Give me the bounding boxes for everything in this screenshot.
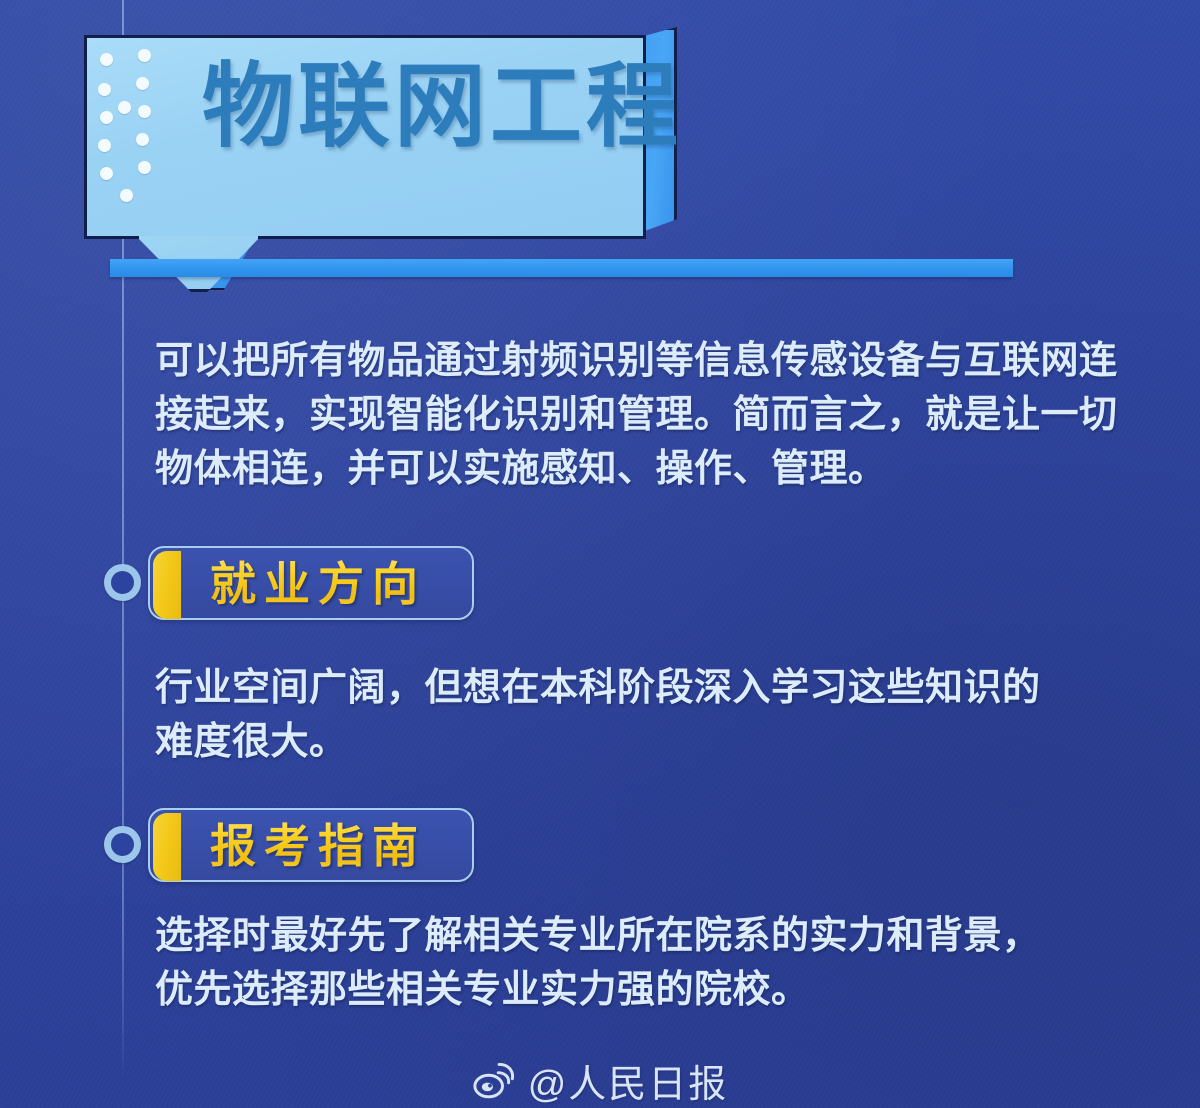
employment-paragraph: 行业空间广阔，但想在本科阶段深入学习这些知识的难度很大。	[155, 662, 1045, 770]
section-badge: 报考指南	[148, 808, 474, 882]
title-accent-bar	[110, 259, 1013, 277]
intro-paragraph: 可以把所有物品通过射频识别等信息传感设备与互联网连接起来，实现智能化识别和管理。…	[155, 335, 1140, 497]
section-badge-label: 就业方向	[210, 548, 426, 622]
section-badge: 就业方向	[148, 546, 474, 620]
badge-yellow-tab	[153, 813, 181, 881]
footer-watermark: @人民日报	[0, 1052, 1200, 1108]
application-guide-paragraph: 选择时最好先了解相关专业所在院系的实力和背景，优先选择那些相关专业实力强的院校。	[155, 910, 1055, 1018]
weibo-icon	[472, 1061, 514, 1099]
section-badge-label: 报考指南	[210, 810, 426, 884]
dot-grid-decoration-icon	[98, 49, 186, 209]
ring-bullet-icon	[104, 826, 141, 863]
badge-yellow-tab	[153, 551, 181, 619]
title-speech-bubble: 物联网工程	[84, 27, 680, 275]
ring-bullet-icon	[104, 564, 141, 601]
page-title: 物联网工程	[202, 61, 632, 153]
footer-handle: @人民日报	[528, 1053, 729, 1108]
